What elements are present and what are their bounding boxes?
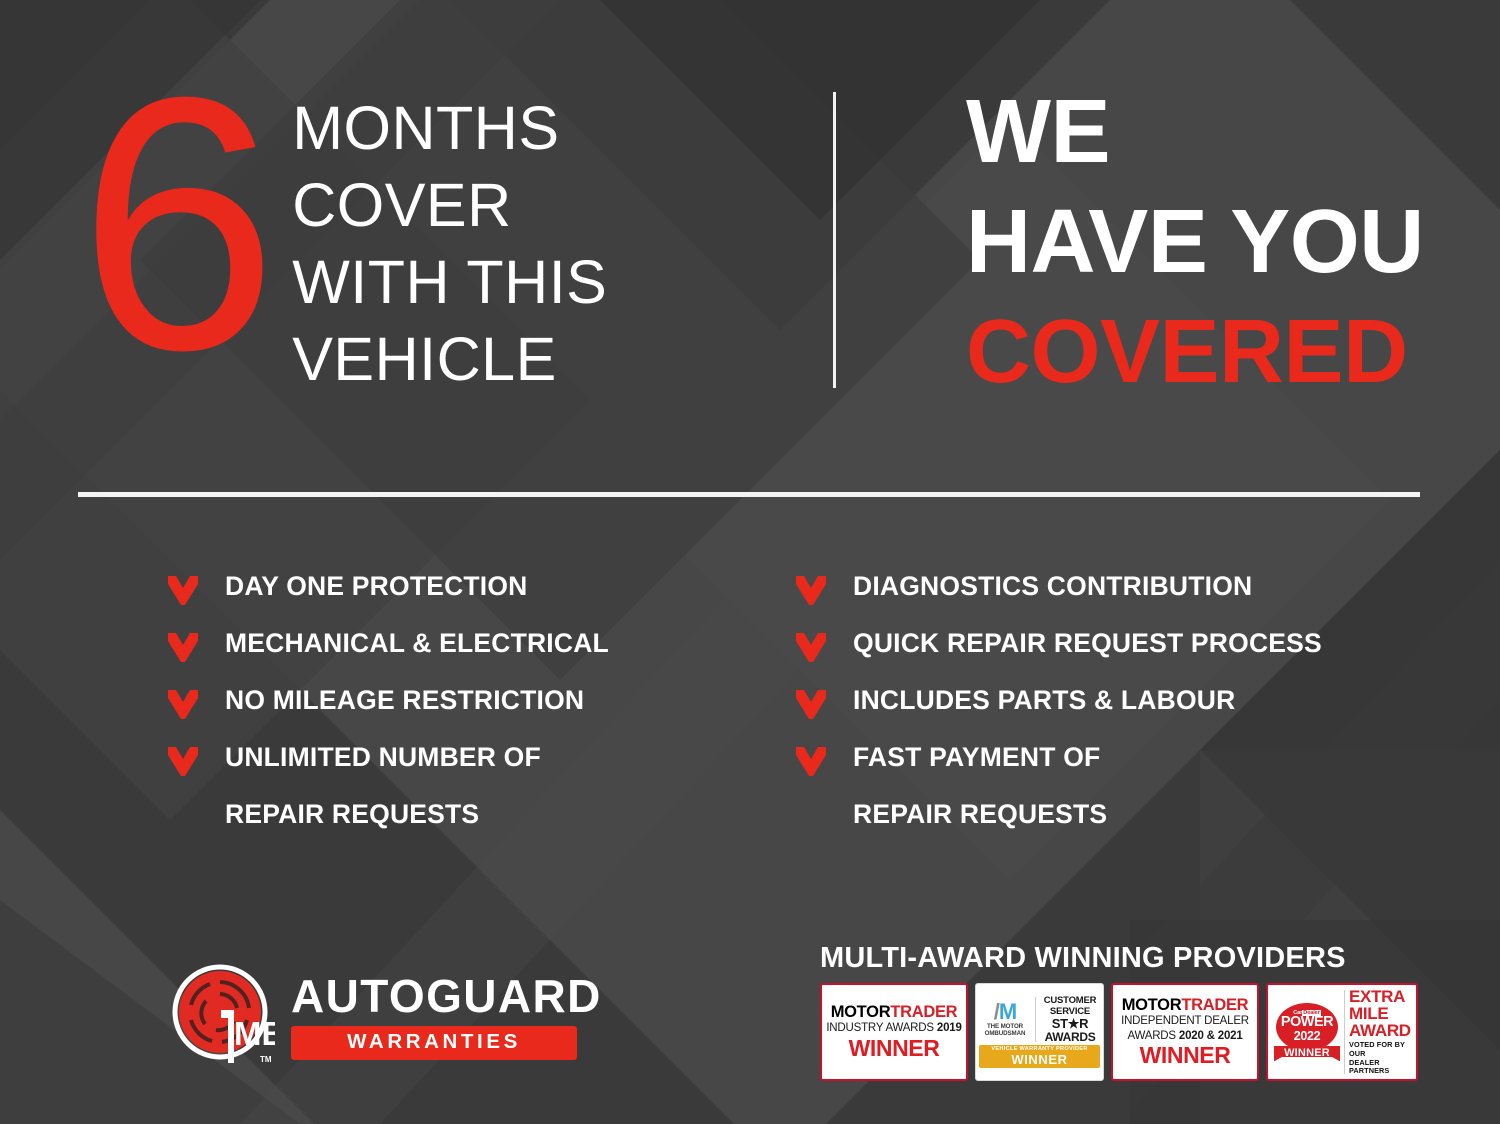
award-badge-motor-ombudsman-star-awards: /M THE MOTOR OMBUDSMAN CUSTOMER SERVICE … bbox=[975, 983, 1104, 1081]
badge-brand-part-1: MOTOR bbox=[1122, 996, 1182, 1014]
badge-separator bbox=[1035, 997, 1036, 1042]
award-line-3: ST★R bbox=[1040, 1017, 1100, 1031]
award-note: VOTED FOR BY OUR DEALER PARTNERS bbox=[1349, 1041, 1412, 1076]
badge-subtitle-2-text: AWARDS bbox=[1127, 1030, 1175, 1042]
award-line-4: AWARDS bbox=[1040, 1031, 1100, 1044]
horizontal-divider bbox=[78, 492, 1420, 497]
feature-item: DIAGNOSTICS CONTRIBUTION bbox=[796, 572, 1436, 629]
badge-brand-part-2: TRADER bbox=[1181, 996, 1248, 1014]
right-headline-line-2: HAVE YOU bbox=[966, 188, 1424, 298]
badge-year: 2020 & 2021 bbox=[1179, 1030, 1243, 1042]
vertical-divider bbox=[833, 92, 836, 388]
chevron-check-icon bbox=[796, 690, 826, 720]
months-number: 6 bbox=[78, 66, 268, 383]
autoguard-tagline: WARRANTIES bbox=[347, 1032, 521, 1053]
award-line-2: MILE bbox=[1349, 1005, 1412, 1022]
badge-brand-part-1: MOTOR bbox=[831, 1003, 891, 1021]
award-badge-motor-trader-2019: MOTORTRADER INDUSTRY AWARDS 2019 WINNER bbox=[820, 983, 968, 1081]
feature-label: FAST PAYMENT OF bbox=[853, 743, 1100, 772]
badge-year: 2019 bbox=[937, 1022, 962, 1034]
feature-item-continuation: REPAIR REQUESTS bbox=[796, 800, 1436, 857]
autoguard-tagline-bar: WARRANTIES bbox=[291, 1026, 577, 1060]
chevron-check-icon bbox=[796, 576, 826, 606]
right-headline-text: WE HAVE YOU COVERED bbox=[966, 78, 1424, 407]
chevron-check-icon bbox=[168, 747, 198, 777]
awards-section: MULTI-AWARD WINNING PROVIDERS MOTORTRADE… bbox=[820, 944, 1420, 1081]
feature-list: DAY ONE PROTECTION MECHANICAL & ELECTRIC… bbox=[0, 572, 1500, 857]
badge-result: WINNER bbox=[981, 1053, 1098, 1066]
award-line-3: AWARD bbox=[1349, 1022, 1412, 1039]
feature-item: UNLIMITED NUMBER OF bbox=[168, 743, 788, 800]
award-note-line-1: VOTED FOR BY OUR bbox=[1349, 1041, 1412, 1059]
feature-label: UNLIMITED NUMBER OF bbox=[225, 743, 541, 772]
left-headline-line-4: VEHICLE bbox=[292, 321, 607, 398]
feature-label: DAY ONE PROTECTION bbox=[225, 572, 528, 601]
badge-power-block: CarDealer POWER 2022 WINNER bbox=[1272, 1003, 1342, 1062]
chevron-check-icon bbox=[168, 633, 198, 663]
svg-text:MBi: MBi bbox=[234, 1015, 275, 1052]
feature-item: INCLUDES PARTS & LABOUR bbox=[796, 686, 1436, 743]
ombudsman-logo-icon: /M bbox=[979, 1002, 1031, 1023]
chevron-check-icon bbox=[796, 633, 826, 663]
power-label: POWER bbox=[1281, 1016, 1333, 1030]
badge-top-row: /M THE MOTOR OMBUDSMAN CUSTOMER SERVICE … bbox=[979, 996, 1100, 1043]
badge-brand-part-2: TRADER bbox=[890, 1003, 957, 1021]
autoguard-wordmark: AUTOGUARD WARRANTIES bbox=[291, 973, 577, 1060]
feature-label: MECHANICAL & ELECTRICAL bbox=[225, 629, 609, 658]
autoguard-name: AUTOGUARD bbox=[291, 973, 577, 1019]
badge-award-block: EXTRA MILE AWARD VOTED FOR BY OUR DEALER… bbox=[1349, 988, 1412, 1076]
badge-result: WINNER bbox=[1117, 1044, 1253, 1067]
chevron-check-icon bbox=[168, 576, 198, 606]
chevron-check-icon bbox=[168, 690, 198, 720]
feature-item: QUICK REPAIR REQUEST PROCESS bbox=[796, 629, 1436, 686]
badge-award-block: CUSTOMER SERVICE ST★R AWARDS bbox=[1040, 996, 1100, 1043]
feature-item: DAY ONE PROTECTION bbox=[168, 572, 788, 629]
feature-item: FAST PAYMENT OF bbox=[796, 743, 1436, 800]
left-headline-text: MONTHS COVER WITH THIS VEHICLE bbox=[292, 90, 607, 397]
badge-result: WINNER bbox=[1274, 1046, 1340, 1062]
badge-brand: MOTORTRADER bbox=[1117, 997, 1253, 1014]
power-roundel-icon: CarDealer POWER 2022 bbox=[1276, 1003, 1338, 1051]
feature-label: DIAGNOSTICS CONTRIBUTION bbox=[853, 572, 1252, 601]
award-badge-car-dealer-power-2022: CarDealer POWER 2022 WINNER EXTRA MILE A… bbox=[1266, 983, 1418, 1081]
feature-column-left: DAY ONE PROTECTION MECHANICAL & ELECTRIC… bbox=[168, 572, 788, 857]
chevron-check-icon bbox=[796, 747, 826, 777]
badge-subtitle: INDUSTRY AWARDS 2019 bbox=[826, 1022, 962, 1035]
right-headline-line-1: WE bbox=[966, 78, 1424, 188]
svg-text:TM: TM bbox=[260, 1055, 272, 1064]
ombudsman-name: THE MOTOR OMBUDSMAN bbox=[979, 1024, 1031, 1038]
feature-column-right: DIAGNOSTICS CONTRIBUTION QUICK REPAIR RE… bbox=[796, 572, 1436, 857]
badge-subtitle: INDEPENDENT DEALER bbox=[1117, 1015, 1253, 1028]
awards-title: MULTI-AWARD WINNING PROVIDERS bbox=[820, 944, 1420, 973]
award-note-line-2: DEALER PARTNERS bbox=[1349, 1059, 1412, 1077]
ombudsman-name-line-2: OMBUDSMAN bbox=[979, 1031, 1031, 1038]
awards-badge-row: MOTORTRADER INDUSTRY AWARDS 2019 WINNER … bbox=[820, 983, 1420, 1081]
badge-brand: MOTORTRADER bbox=[826, 1004, 962, 1021]
feature-label: REPAIR REQUESTS bbox=[225, 800, 479, 829]
badge-subtitle-2: AWARDS 2020 & 2021 bbox=[1117, 1030, 1253, 1043]
badge-separator bbox=[1344, 990, 1345, 1074]
mbi-roundel-icon: MBi TM bbox=[172, 962, 275, 1070]
feature-item: NO MILEAGE RESTRICTION bbox=[168, 686, 788, 743]
badge-result: WINNER bbox=[826, 1037, 962, 1060]
badge-ombudsman-block: /M THE MOTOR OMBUDSMAN bbox=[979, 1002, 1031, 1038]
feature-label: QUICK REPAIR REQUEST PROCESS bbox=[853, 629, 1322, 658]
headline-band: 6 MONTHS COVER WITH THIS VEHICLE WE HAVE… bbox=[0, 0, 1500, 470]
award-badge-motor-trader-2020-2021: MOTORTRADER INDEPENDENT DEALER AWARDS 20… bbox=[1111, 983, 1259, 1081]
left-headline-line-3: WITH THIS bbox=[292, 244, 607, 321]
left-headline-line-2: COVER bbox=[292, 167, 607, 244]
power-year: 2022 bbox=[1294, 1030, 1321, 1042]
left-headline-group: 6 MONTHS COVER WITH THIS VEHICLE bbox=[78, 72, 607, 397]
badge-subtitle-text: INDUSTRY AWARDS bbox=[826, 1022, 934, 1034]
feature-label: NO MILEAGE RESTRICTION bbox=[225, 686, 584, 715]
badge-winner-bar: VEHICLE WARRANTY PROVIDER WINNER bbox=[979, 1045, 1100, 1067]
feature-label: INCLUDES PARTS & LABOUR bbox=[853, 686, 1235, 715]
feature-label: REPAIR REQUESTS bbox=[853, 800, 1107, 829]
award-line-1: EXTRA bbox=[1349, 988, 1412, 1005]
feature-item: MECHANICAL & ELECTRICAL bbox=[168, 629, 788, 686]
badge-inner: CarDealer POWER 2022 WINNER EXTRA MILE A… bbox=[1272, 988, 1412, 1076]
warranty-promo-poster: 6 MONTHS COVER WITH THIS VEHICLE WE HAVE… bbox=[0, 0, 1500, 1124]
feature-item-continuation: REPAIR REQUESTS bbox=[168, 800, 788, 857]
left-headline-line-1: MONTHS bbox=[292, 90, 607, 167]
right-headline-line-3: COVERED bbox=[966, 298, 1424, 408]
autoguard-logo: MBi TM AUTOGUARD WARRANTIES bbox=[172, 962, 577, 1070]
